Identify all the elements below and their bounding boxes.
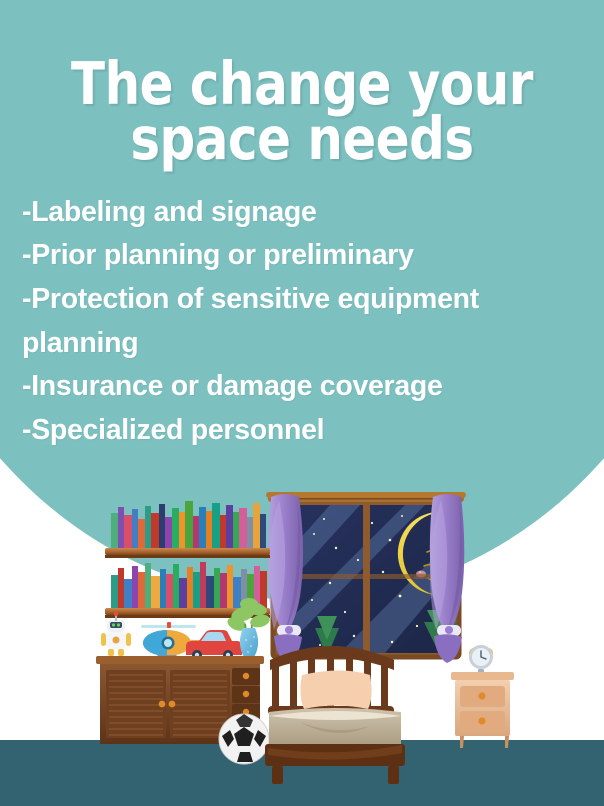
poster-root: The change your space needs -Labeling an… — [0, 0, 604, 806]
list-item: -Insurance or damage coverage — [22, 365, 588, 409]
poster-text-block: The change your space needs -Labeling an… — [0, 0, 604, 452]
list-item: -Specialized personnel — [22, 409, 588, 453]
list-item: -Protection of sensitive equipment plann… — [22, 278, 588, 365]
bed — [265, 646, 405, 784]
list-item: -Labeling and signage — [22, 191, 588, 235]
alarm-clock — [469, 645, 493, 673]
nightstand — [451, 672, 514, 748]
soccer-ball — [219, 714, 269, 764]
books-upper — [111, 501, 266, 548]
bookshelf-upper — [105, 501, 270, 558]
feature-list: -Labeling and signage -Prior planning or… — [0, 167, 604, 453]
page-title: The change your space needs — [18, 0, 586, 167]
robot-toy — [101, 612, 131, 656]
car-toy — [186, 630, 242, 660]
list-item: -Prior planning or preliminary — [22, 234, 588, 278]
